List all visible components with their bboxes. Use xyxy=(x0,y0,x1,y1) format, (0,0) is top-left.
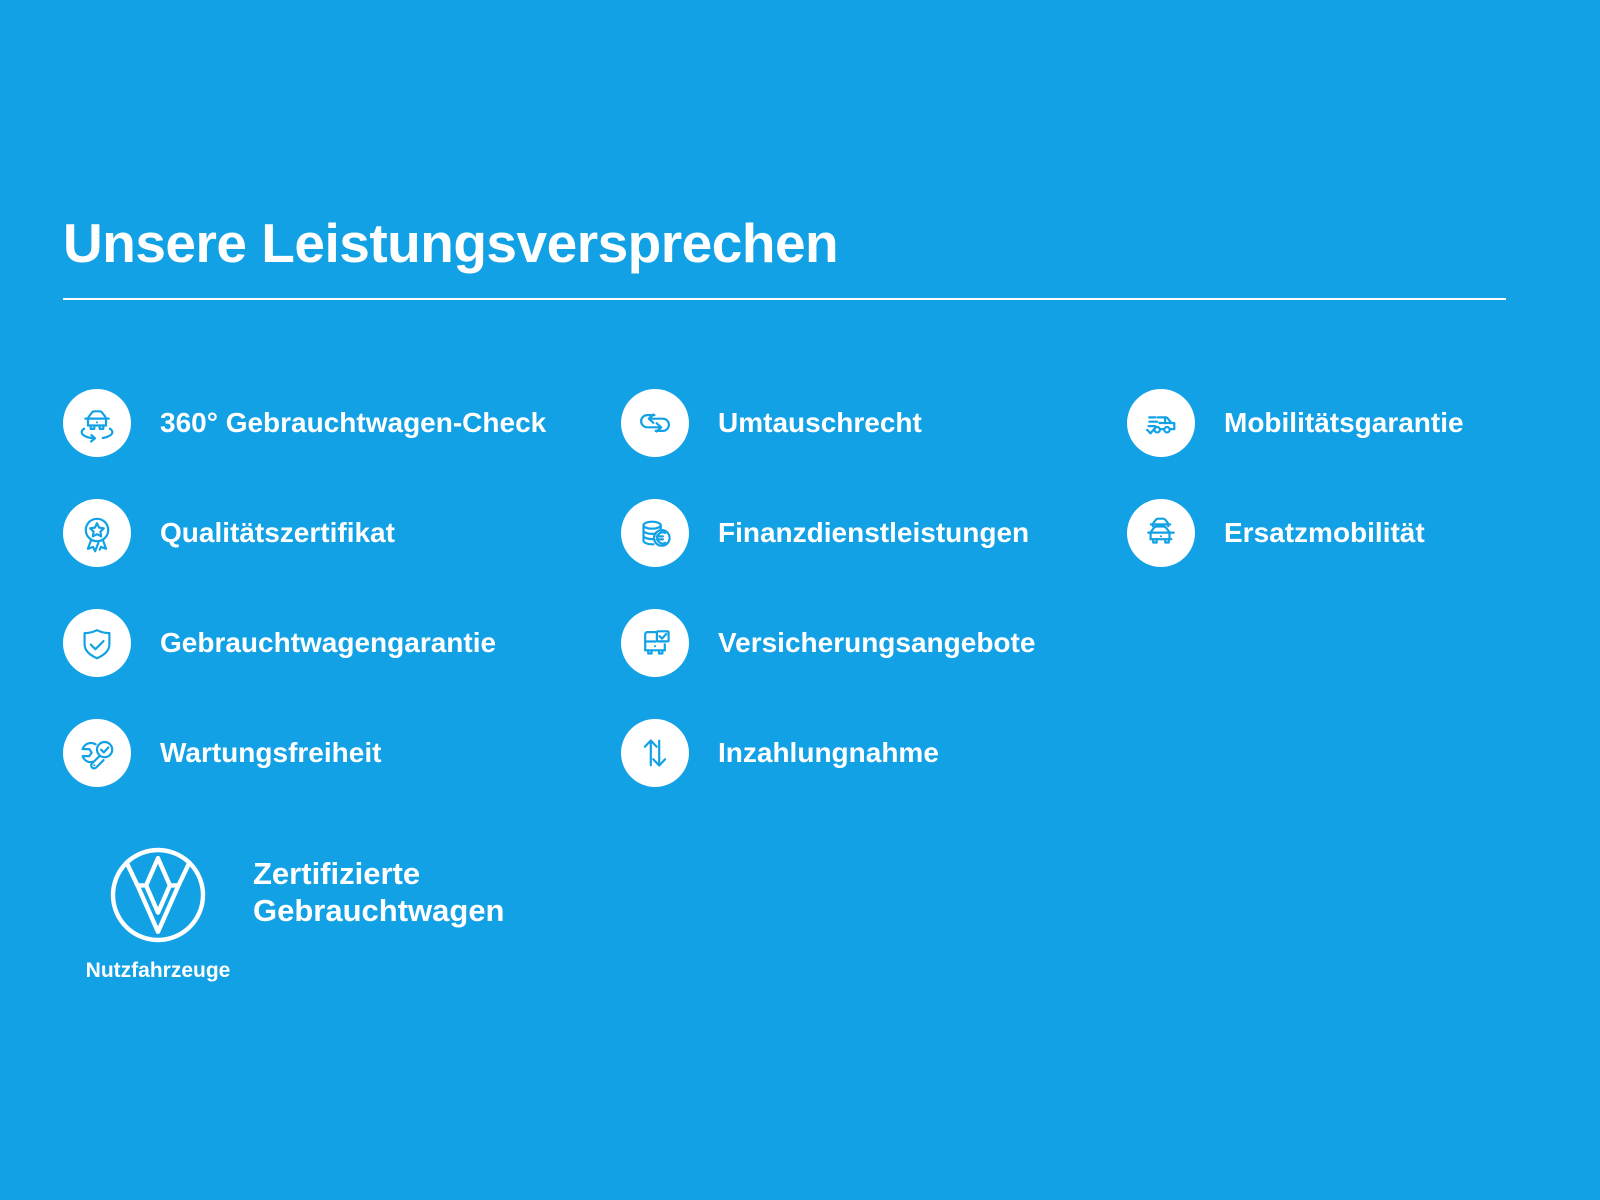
promise-item-used-car-warranty[interactable]: Gebrauchtwagengarantie xyxy=(63,588,621,698)
promise-item-mobility-guarantee[interactable]: Mobilitätsgarantie xyxy=(1127,368,1527,478)
coins-euro-icon xyxy=(621,499,689,567)
promise-label: Qualitätszertifikat xyxy=(160,517,395,549)
promise-column-2: Umtauschrecht Finanz xyxy=(621,368,1127,808)
brand-lockup: Nutzfahrzeuge Zertifizierte Gebrauchtwag… xyxy=(63,843,505,983)
brand-sub-label: Nutzfahrzeuge xyxy=(86,959,231,983)
promise-item-trade-in[interactable]: Inzahlungnahme xyxy=(621,698,1127,808)
page-title: Unsere Leistungsversprechen xyxy=(63,212,1506,274)
up-down-arrows-icon xyxy=(621,719,689,787)
promise-label: Inzahlungnahme xyxy=(718,737,939,769)
promise-column-3: Mobilitätsgarantie Ersatzmobilitä xyxy=(1127,368,1527,588)
promise-label: Wartungsfreiheit xyxy=(160,737,381,769)
promise-columns: 360° Gebrauchtwagen-Check Qualitätszerti… xyxy=(63,368,1533,808)
brand-claim: Zertifizierte Gebrauchtwagen xyxy=(253,855,505,929)
promise-label: Mobilitätsgarantie xyxy=(1224,407,1464,439)
promise-item-360-check[interactable]: 360° Gebrauchtwagen-Check xyxy=(63,368,621,478)
title-divider xyxy=(63,298,1506,300)
promise-item-maintenance-free[interactable]: Wartungsfreiheit xyxy=(63,698,621,808)
promise-label: Versicherungsangebote xyxy=(718,627,1035,659)
promise-column-1: 360° Gebrauchtwagen-Check Qualitätszerti… xyxy=(63,368,621,808)
promise-item-financial-services[interactable]: Finanzdienstleistungen xyxy=(621,478,1127,588)
shield-check-icon xyxy=(63,609,131,677)
brand-claim-line-2: Gebrauchtwagen xyxy=(253,892,505,929)
page-title-block: Unsere Leistungsversprechen xyxy=(63,212,1506,300)
promise-label: Ersatzmobilität xyxy=(1224,517,1425,549)
wrench-check-icon xyxy=(63,719,131,787)
volkswagen-roundel-logo xyxy=(106,843,210,947)
promise-label: Umtauschrecht xyxy=(718,407,922,439)
promise-item-exchange-right[interactable]: Umtauschrecht xyxy=(621,368,1127,478)
van-speed-check-icon xyxy=(1127,389,1195,457)
promise-label: Gebrauchtwagengarantie xyxy=(160,627,496,659)
promise-label: Finanzdienstleistungen xyxy=(718,517,1029,549)
promise-item-replacement-mobility[interactable]: Ersatzmobilität xyxy=(1127,478,1527,588)
slide-root: Unsere Leistungsversprechen xyxy=(0,0,1600,1200)
promise-item-quality-certificate[interactable]: Qualitätszertifikat xyxy=(63,478,621,588)
promise-item-insurance-offers[interactable]: Versicherungsangebote xyxy=(621,588,1127,698)
car-360-check-icon xyxy=(63,389,131,457)
brand-claim-line-1: Zertifizierte xyxy=(253,855,505,892)
two-cars-icon xyxy=(1127,499,1195,567)
brand-mark: Nutzfahrzeuge xyxy=(63,843,253,983)
exchange-arrows-icon xyxy=(621,389,689,457)
award-rosette-icon xyxy=(63,499,131,567)
van-checkbox-icon xyxy=(621,609,689,677)
promise-label: 360° Gebrauchtwagen-Check xyxy=(160,407,546,439)
